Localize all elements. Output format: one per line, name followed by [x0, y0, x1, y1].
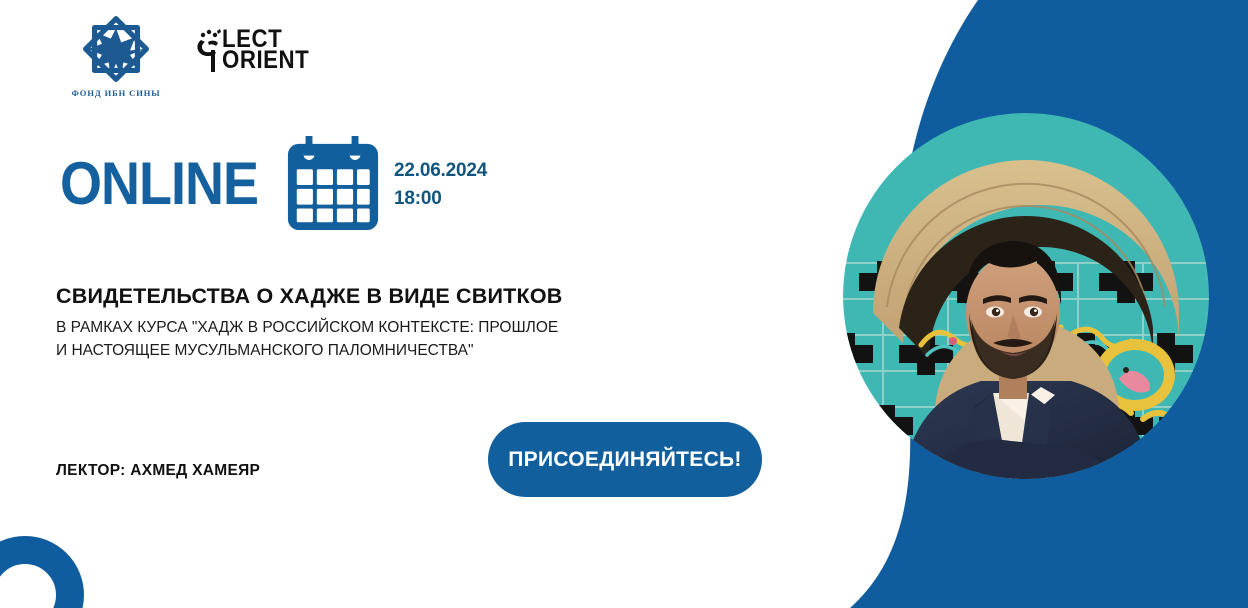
corner-ring-decoration [0, 536, 84, 608]
event-time: 18:00 [394, 189, 487, 208]
lect-orient-line-2: ORIENT [222, 50, 309, 70]
headline-block: СВИДЕТЕЛЬСТВА О ХАДЖЕ В ВИДЕ СВИТКОВ В Р… [56, 284, 676, 362]
webinar-announcement-banner: ФОНД ИБН СИНЫ LECT ORIENT ONL [0, 0, 1248, 608]
online-label: ONLINE [60, 154, 258, 214]
calendar-icon [284, 136, 382, 232]
speaker-photo [843, 113, 1209, 479]
join-button[interactable]: ПРИСОЕДИНЯЙТЕСЬ! [488, 422, 762, 497]
event-date: 22.06.2024 [394, 161, 487, 180]
ibn-sina-logo-caption: ФОНД ИБН СИНЫ [72, 88, 161, 98]
course-subtitle-line-2: И НАСТОЯЩЕЕ МУСУЛЬМАНСКОГО ПАЛОМНИЧЕСТВА… [56, 339, 676, 362]
course-subtitle-line-1: В РАМКАХ КУРСА "ХАДЖ В РОССИЙСКОМ КОНТЕК… [56, 316, 676, 339]
speaker-portrait [843, 113, 1209, 479]
eight-pointed-star-icon [79, 12, 153, 86]
page-title: СВИДЕТЕЛЬСТВА О ХАДЖЕ В ВИДЕ СВИТКОВ [56, 284, 676, 309]
event-datetime: 22.06.2024 18:00 [394, 161, 487, 208]
event-format-row: ONLINE [60, 136, 487, 232]
lecturer-label: ЛЕКТОР: АХМЕД ХАМЕЯР [56, 462, 260, 480]
ibn-sina-foundation-logo[interactable]: ФОНД ИБН СИНЫ [62, 12, 170, 98]
lect-orient-logo[interactable]: LECT ORIENT [194, 26, 304, 74]
lect-orient-wordmark: LECT ORIENT [222, 31, 304, 68]
logo-row: ФОНД ИБН СИНЫ LECT ORIENT [62, 12, 304, 98]
